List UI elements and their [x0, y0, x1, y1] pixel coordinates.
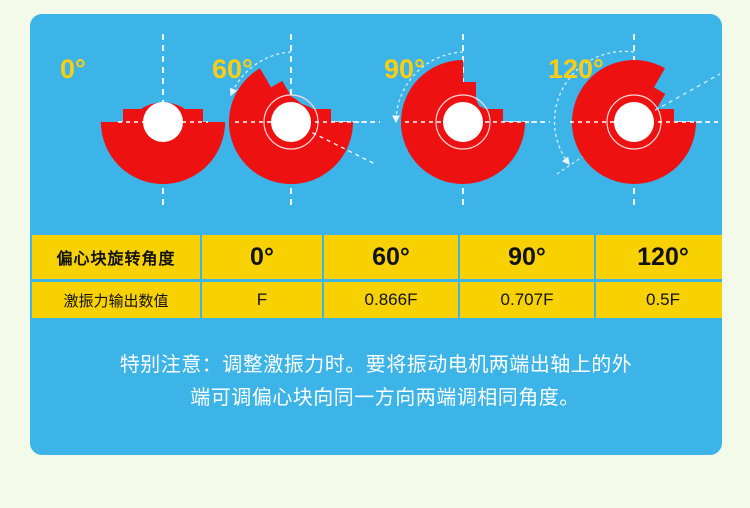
- note-line-1: 特别注意：调整激振力时。要将振动电机两端出轴上的外: [56, 349, 696, 382]
- angle-label-120deg: 120°: [548, 54, 604, 84]
- shaft-hub-0deg: [143, 102, 183, 142]
- shaft-hub-90deg: [443, 102, 483, 142]
- note-line-2: 端可调偏心块向同一方向两端调相同角度。: [56, 382, 696, 415]
- cell-angle-0: 0°: [202, 235, 322, 279]
- angle-label-60deg: 60°: [212, 54, 253, 84]
- cell-force-0: F: [202, 282, 322, 318]
- diagram-0deg: 0°: [60, 34, 225, 210]
- row-label-exciting-force: 激振力输出数值: [32, 282, 200, 318]
- cell-angle-1: 60°: [324, 235, 458, 279]
- diagram-60deg: 60°: [206, 34, 380, 210]
- shaft-hub-120deg: [614, 102, 654, 142]
- note-block: 特别注意：调整激振力时。要将振动电机两端出轴上的外 端可调偏心块向同一方向两端调…: [56, 349, 696, 415]
- info-panel: 0° 60°: [30, 14, 722, 455]
- cell-force-1: 0.866F: [324, 282, 458, 318]
- diagram-120deg: 120°: [548, 34, 720, 210]
- cell-angle-2: 90°: [460, 235, 594, 279]
- cell-angle-3: 120°: [596, 235, 722, 279]
- shaft-hub-60deg: [271, 102, 311, 142]
- cell-force-2: 0.707F: [460, 282, 594, 318]
- eccentric-block-diagram-strip: 0° 60°: [30, 14, 722, 232]
- table-row: 偏心块旋转角度 0° 60° 90° 120°: [32, 235, 722, 279]
- cell-force-3: 0.5F: [596, 282, 722, 318]
- angle-label-0deg: 0°: [60, 54, 86, 84]
- spec-table: 偏心块旋转角度 0° 60° 90° 120° 激振力输出数值 F 0.866F…: [30, 232, 722, 321]
- row-label-rotation-angle: 偏心块旋转角度: [32, 235, 200, 279]
- diagram-90deg: 90°: [384, 34, 550, 210]
- table-row: 激振力输出数值 F 0.866F 0.707F 0.5F: [32, 282, 722, 318]
- angle-label-90deg: 90°: [384, 54, 425, 84]
